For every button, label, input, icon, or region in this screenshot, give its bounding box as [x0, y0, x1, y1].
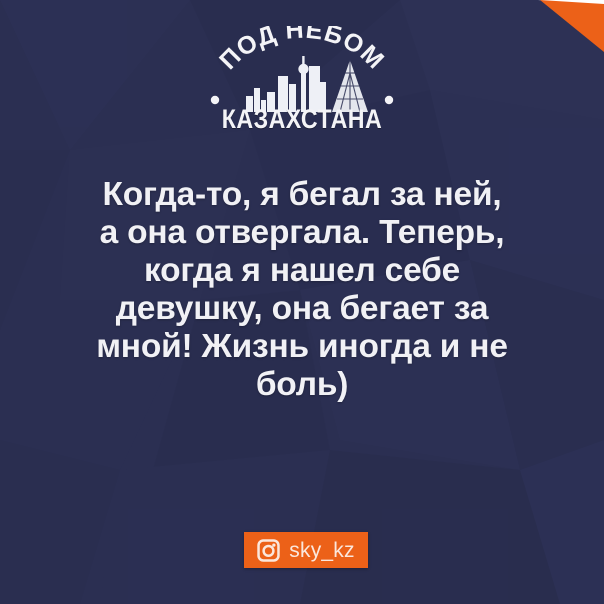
instagram-watermark-badge[interactable]: sky_kz — [244, 532, 368, 568]
dot-marker-left-icon — [211, 96, 219, 104]
quote-line: мной! Жизнь иногда и не — [34, 328, 570, 366]
dot-marker-right-icon — [385, 96, 393, 104]
quote-line: когда я нашел себе — [34, 252, 570, 290]
logo-arc-graphic: ПОД НЕБОМ — [202, 26, 402, 112]
quote-line: Когда-то, я бегал за ней, — [34, 176, 570, 214]
logo-country-text: КАЗАХСТАНА — [42, 106, 561, 133]
quote-line: боль) — [34, 366, 570, 404]
quote-line: а она отвергала. Теперь, — [34, 214, 570, 252]
quote-line: девушку, она бегает за — [34, 290, 570, 328]
brand-logo: ПОД НЕБОМ — [0, 26, 604, 133]
instagram-icon — [257, 539, 280, 562]
instagram-handle: sky_kz — [289, 540, 354, 561]
image-card: ПОД НЕБОМ — [0, 0, 604, 604]
quote-text: Когда-то, я бегал за ней, а она отвергал… — [0, 176, 604, 404]
